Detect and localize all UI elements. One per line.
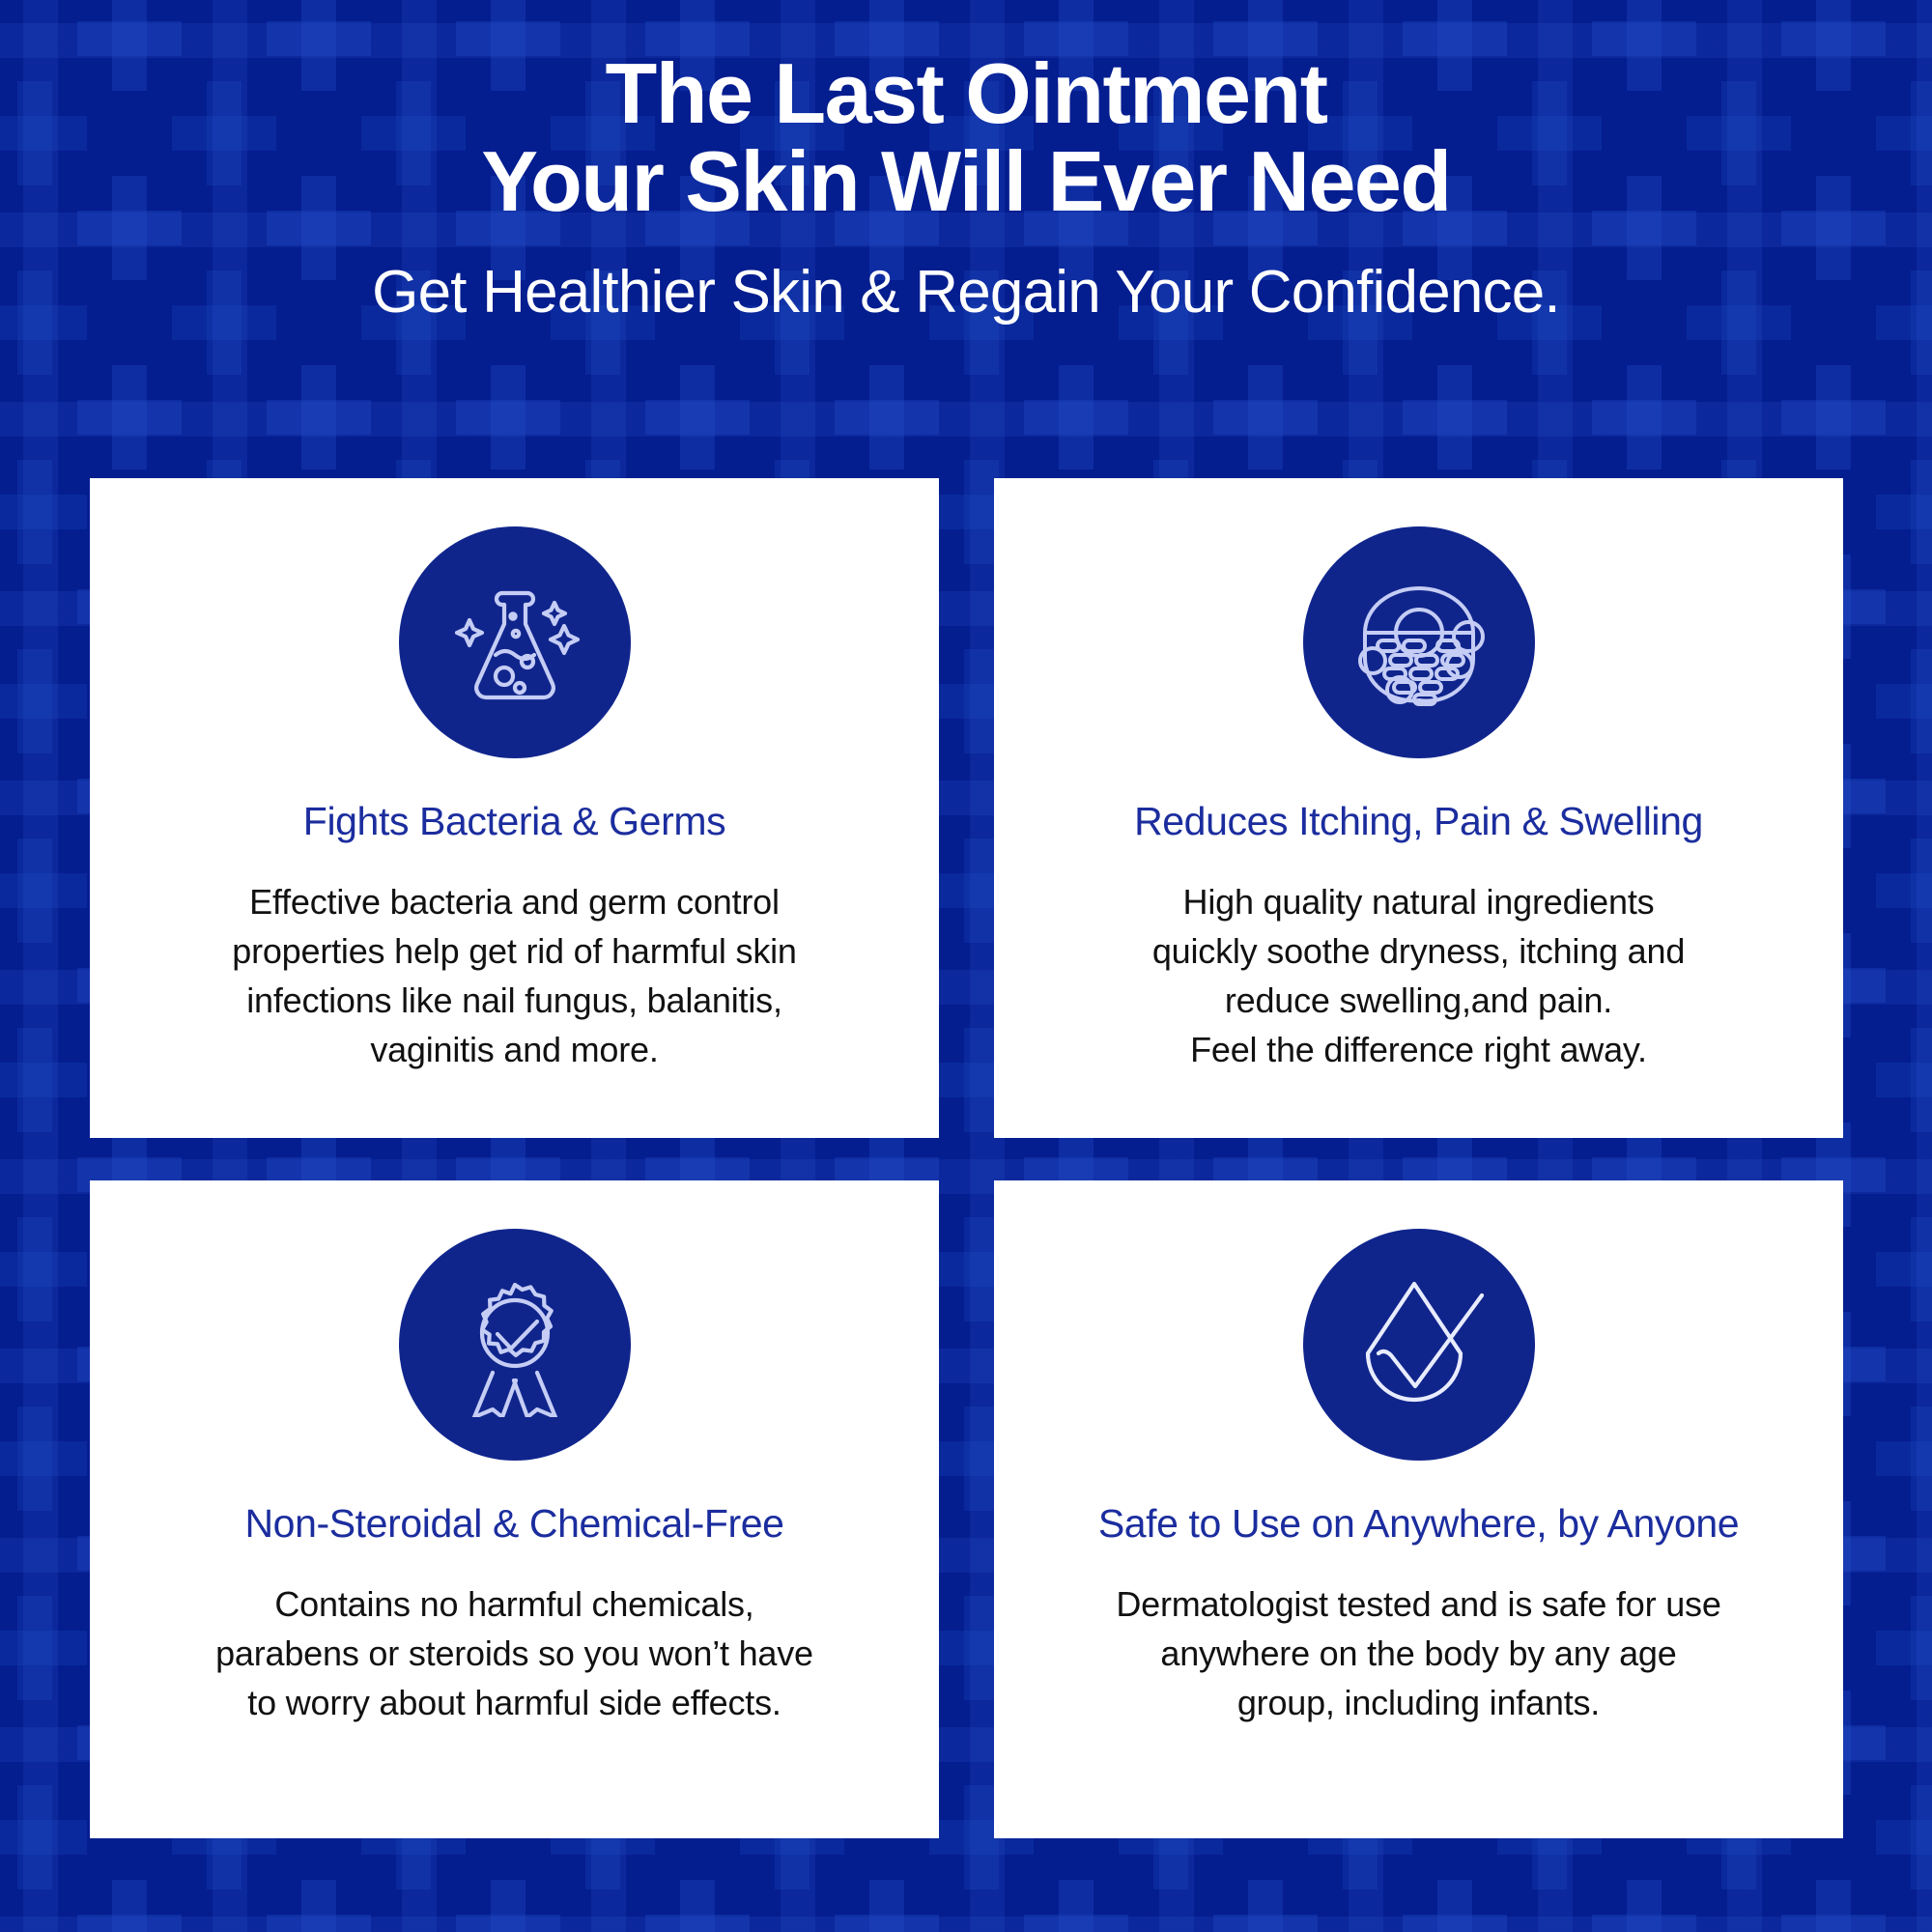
infographic-page: The Last Ointment Your Skin Will Ever Ne… <box>0 0 1932 1932</box>
card-title: Non-Steroidal & Chemical-Free <box>244 1501 783 1547</box>
icon-circle <box>1303 526 1535 758</box>
icon-circle <box>399 526 631 758</box>
card-title: Reduces Itching, Pain & Swelling <box>1134 799 1703 844</box>
skin-cells-cross-section-icon <box>1346 569 1492 716</box>
benefit-card-safe-to-use: Safe to Use on Anywhere, by Anyone Derma… <box>994 1180 1843 1838</box>
benefit-card-non-steroidal: Non-Steroidal & Chemical-Free Contains n… <box>90 1180 939 1838</box>
icon-circle <box>1303 1229 1535 1461</box>
benefit-card-fights-bacteria: Fights Bacteria & Germs Effective bacter… <box>90 478 939 1138</box>
card-title: Safe to Use on Anywhere, by Anyone <box>1098 1501 1739 1547</box>
card-body: Effective bacteria and germ control prop… <box>174 877 855 1074</box>
droplet-check-icon <box>1347 1272 1492 1417</box>
flask-sparkle-icon <box>442 570 587 715</box>
card-body: High quality natural ingredients quickly… <box>1094 877 1743 1074</box>
card-title: Fights Bacteria & Germs <box>303 799 725 844</box>
award-badge-check-icon <box>442 1272 587 1417</box>
headline-line-2: Your Skin Will Ever Need <box>0 138 1932 226</box>
headline: The Last Ointment Your Skin Will Ever Ne… <box>0 50 1932 225</box>
benefit-cards-grid: Fights Bacteria & Germs Effective bacter… <box>90 478 1843 1838</box>
card-body: Contains no harmful chemicals, parabens … <box>157 1579 871 1727</box>
header: The Last Ointment Your Skin Will Ever Ne… <box>0 0 1932 327</box>
subheadline: Get Healthier Skin & Regain Your Confide… <box>0 258 1932 327</box>
benefit-card-reduces-itching: Reduces Itching, Pain & Swelling High qu… <box>994 478 1843 1138</box>
headline-line-1: The Last Ointment <box>0 50 1932 138</box>
icon-circle <box>399 1229 631 1461</box>
card-body: Dermatologist tested and is safe for use… <box>1058 1579 1778 1727</box>
